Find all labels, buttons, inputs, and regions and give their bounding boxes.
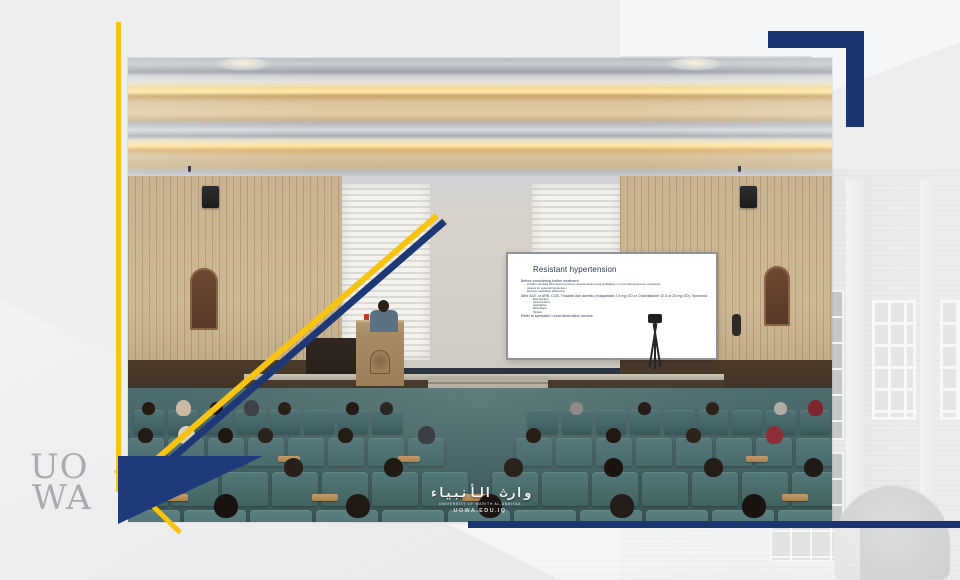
arched-wall-panel-right: [764, 266, 790, 326]
slide-bullet-list: Before considering further treatment: Co…: [521, 279, 707, 318]
attendee-head: [604, 458, 623, 477]
navy-corner-bar-vertical: [846, 31, 864, 127]
backdrop-lower-window-2: [940, 300, 960, 420]
seat: [304, 410, 334, 434]
seat-tray: [782, 494, 808, 501]
slide-title: Resistant hypertension: [533, 265, 617, 274]
navy-corner-accent-top-right: [768, 31, 864, 127]
slide-bullet: Refer to specialist / renal denervation …: [521, 314, 707, 318]
attendee-head: [804, 458, 823, 477]
university-emblem-icon: [370, 350, 390, 374]
attendee-head: [278, 402, 291, 415]
attendee-head: [704, 458, 723, 477]
attendee-head: [142, 402, 155, 415]
attendee-head: [638, 402, 651, 415]
attendee-head: [504, 458, 523, 477]
attendee-head: [610, 494, 634, 518]
attendee-head: [176, 400, 191, 416]
wall-speaker-left: [202, 186, 219, 208]
attendee-head: [346, 402, 359, 415]
seat-tray: [312, 494, 338, 501]
seat: [272, 472, 318, 506]
seat: [692, 472, 738, 506]
slide-surface: Resistant hypertension Before considerin…: [511, 257, 713, 355]
attendee-head: [686, 428, 701, 443]
logo-english-name: UNIVERSITY OF WARITH AL-ANBIYAA: [429, 502, 531, 506]
logo-kufic-script: وارث الأنبياء: [429, 487, 531, 500]
navy-bottom-rule: [468, 521, 960, 528]
seat: [642, 472, 688, 506]
banner-canvas: Resistant hypertension Before considerin…: [0, 0, 960, 580]
ceiling-dome-light-2: [668, 58, 722, 70]
ceiling-sprinkler-1: [188, 166, 191, 172]
navy-triangle-bottom-left: [118, 456, 263, 524]
seat: [636, 438, 672, 466]
video-camera: [648, 314, 662, 323]
attendee-head: [526, 428, 541, 443]
attendee-head: [418, 426, 435, 444]
attendee-head: [706, 402, 719, 415]
attendee-head: [338, 428, 353, 443]
tripod-leg-3: [654, 323, 656, 369]
logo-website-url: UOWA.EDU.IQ: [429, 508, 531, 514]
standing-attendee-right: [732, 314, 741, 336]
seat: [542, 472, 588, 506]
attendee-head: [808, 400, 823, 416]
seat: [556, 438, 592, 466]
seat: [372, 472, 418, 506]
ceiling-sprinkler-2: [738, 166, 741, 172]
speaker-head: [378, 300, 389, 312]
yellow-accent-line-vertical: [116, 22, 121, 492]
attendee-head: [384, 458, 403, 477]
ceiling-light-falloff: [128, 58, 832, 184]
attendee-head: [606, 428, 621, 443]
photo-university-logo: وارث الأنبياء UNIVERSITY OF WARITH AL-AN…: [429, 487, 531, 514]
seat-tray: [746, 456, 768, 462]
conference-photo: Resistant hypertension Before considerin…: [128, 58, 832, 522]
attendee-head: [346, 494, 370, 518]
navy-corner-notch: [768, 31, 790, 48]
wall-speaker-right: [740, 186, 757, 208]
arched-wall-panel-left: [190, 268, 218, 330]
attendee-head: [218, 428, 233, 443]
backdrop-lower-window-1: [872, 300, 916, 420]
projection-screen: Resistant hypertension Before considerin…: [508, 254, 716, 358]
attendee-head: [766, 426, 783, 444]
ceiling-dome-light-1: [216, 58, 270, 70]
attendee-head: [138, 428, 153, 443]
attendee-head: [284, 458, 303, 477]
speaker-body: [370, 310, 398, 332]
uowa-watermark: UO WA: [30, 452, 92, 515]
attendee-head: [570, 402, 583, 415]
attendee-head: [244, 400, 259, 416]
attendee-head: [774, 402, 787, 415]
uowa-watermark-line-2: WA: [32, 483, 92, 514]
attendee-head: [380, 402, 393, 415]
attendee-head: [742, 494, 766, 518]
seat: [732, 410, 762, 434]
attendee-head: [258, 428, 273, 443]
